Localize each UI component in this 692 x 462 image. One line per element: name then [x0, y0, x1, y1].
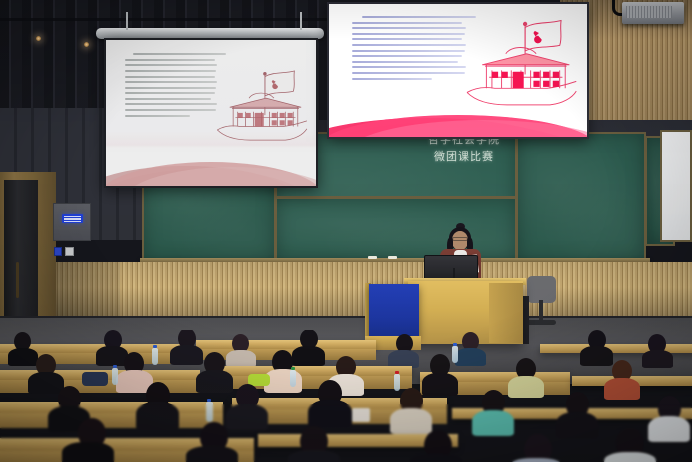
student-torso [226, 404, 268, 430]
right-projection-screen [327, 2, 589, 139]
student-torso [170, 345, 203, 365]
student-torso [642, 350, 673, 368]
chalkboard-panel-center-lower [275, 196, 517, 262]
slide-wave-graphic [106, 147, 316, 186]
thermos-cup [352, 408, 370, 422]
student-torso [288, 450, 340, 462]
backpack [82, 372, 108, 386]
chalk-piece [368, 256, 377, 259]
student-torso [390, 408, 432, 434]
water-bottle [452, 346, 458, 363]
student-torso [510, 458, 562, 462]
bench-desk [0, 402, 223, 413]
water-bottle [112, 368, 118, 385]
student-torso [410, 454, 462, 462]
student-torso [196, 370, 233, 393]
slide-surface [329, 4, 587, 137]
student-torso [422, 373, 458, 396]
student-torso [604, 452, 656, 462]
light-switch-white[interactable] [65, 247, 74, 256]
student-torso [604, 378, 640, 400]
screen-roller-stem [126, 12, 128, 30]
student-torso [226, 350, 256, 367]
student-torso [556, 412, 598, 438]
student-torso [648, 416, 690, 442]
student-torso [455, 348, 486, 366]
presenter-glasses [452, 237, 468, 241]
student-torso [136, 402, 179, 430]
lecture-hall-photo: 哲学社会学院 微团课比赛 [0, 0, 692, 462]
office-chair-back[interactable] [527, 276, 556, 303]
student-torso [580, 346, 613, 366]
projector-vent-grill [626, 6, 672, 18]
chair-post [539, 300, 543, 322]
ceiling-light [84, 42, 89, 47]
water-bottle [394, 374, 400, 391]
slide-wave-graphic [329, 101, 587, 137]
student-torso [472, 410, 514, 436]
chair-base [526, 320, 556, 325]
ceiling-beam [0, 18, 330, 21]
student-torso [28, 372, 64, 394]
whiteboard [660, 130, 692, 242]
left-projection-screen [104, 38, 318, 188]
student-torso [62, 442, 114, 462]
light-switch-blue[interactable] [54, 247, 62, 256]
slide-surface [106, 40, 316, 186]
bench-desk-front [0, 413, 223, 428]
student-torso [292, 346, 325, 366]
chalkboard-panel-right [516, 132, 646, 262]
student-torso [8, 348, 38, 366]
bench-desk [196, 340, 376, 349]
screen-roller-stem [300, 12, 302, 30]
water-bottle [152, 348, 158, 365]
door-handle[interactable] [16, 262, 19, 298]
student-torso [508, 376, 544, 398]
bench-desk [212, 366, 412, 376]
ceiling-light [36, 36, 41, 41]
wall-sign [62, 214, 83, 223]
chalk-piece [388, 256, 397, 259]
water-bottle [290, 370, 296, 387]
student-torso [186, 446, 238, 462]
chalk-title-line-2: 微团课比赛 [408, 149, 520, 166]
student-torso [308, 400, 352, 428]
water-bottle [206, 402, 213, 422]
audience-seating-area [0, 330, 692, 462]
